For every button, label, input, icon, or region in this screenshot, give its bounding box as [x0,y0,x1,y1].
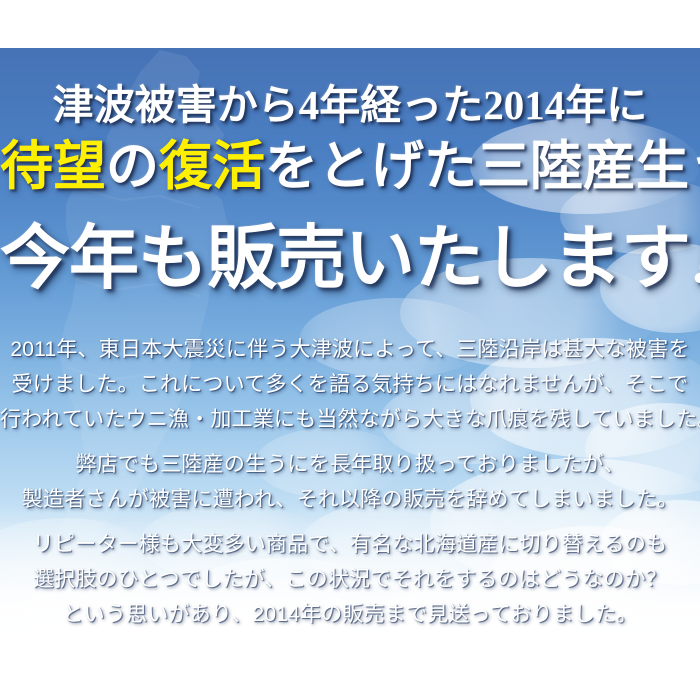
paragraph-3-line-3: という思いがあり、2014年の販売まで見送っておりました。 [0,597,700,632]
paragraph-2-line-2: 製造者さんが被害に遭われ、それ以降の販売を辞めてしまいました。 [0,482,700,517]
headline-line-3-main: 今年も販売いたします [0,221,690,298]
paragraph-3: リピーター様も大変多い商品で、有名な北海道産に切り替えるのも 選択肢のひとつでし… [0,527,700,632]
headline-line-2: 待望の復活をとげた三陸産生うに。 [0,134,700,200]
headline-line-1: 津波被害から4年経った2014年に [0,80,700,130]
headline-exclamation: !! [690,228,700,296]
banner-text: 津波被害から4年経った2014年に 待望の復活をとげた三陸産生うに。 今年も販売… [0,0,700,700]
paragraph-2-line-1: 弊店でも三陸産の生うにを長年取り扱っておりましたが、 [0,447,700,482]
promo-banner: 津波被害から4年経った2014年に 待望の復活をとげた三陸産生うに。 今年も販売… [0,0,700,700]
paragraph-2: 弊店でも三陸産の生うにを長年取り扱っておりましたが、 製造者さんが被害に遭われ、… [0,447,700,517]
paragraph-1-line-2: 受けました。これについて多くを語る気持ちにはなれませんが、そこで [0,367,700,402]
headline-line-2-tail: をとげた三陸産生うに。 [265,138,700,196]
paragraph-3-line-2: 選択肢のひとつでしたが、この状況でそれをするのはどうなのか？ [0,562,700,597]
paragraph-1: 2011年、東日本大震災に伴う大津波によって、三陸沿岸は甚大な被害を 受けました… [0,332,700,437]
headline-particle-no: の [106,138,159,196]
paragraph-3-line-1: リピーター様も大変多い商品で、有名な北海道産に切り替えるのも [0,527,700,562]
headline-line-3: 今年も販売いたします!! [0,216,700,306]
headline-highlight-machinozomi: 待望 [0,138,106,196]
paragraph-1-line-3: 行われていたウニ漁・加工業にも当然ながら大きな爪痕を残していました。 [0,402,700,437]
paragraph-1-line-1: 2011年、東日本大震災に伴う大津波によって、三陸沿岸は甚大な被害を [0,332,700,367]
headline-highlight-fukkatsu: 復活 [159,138,265,196]
